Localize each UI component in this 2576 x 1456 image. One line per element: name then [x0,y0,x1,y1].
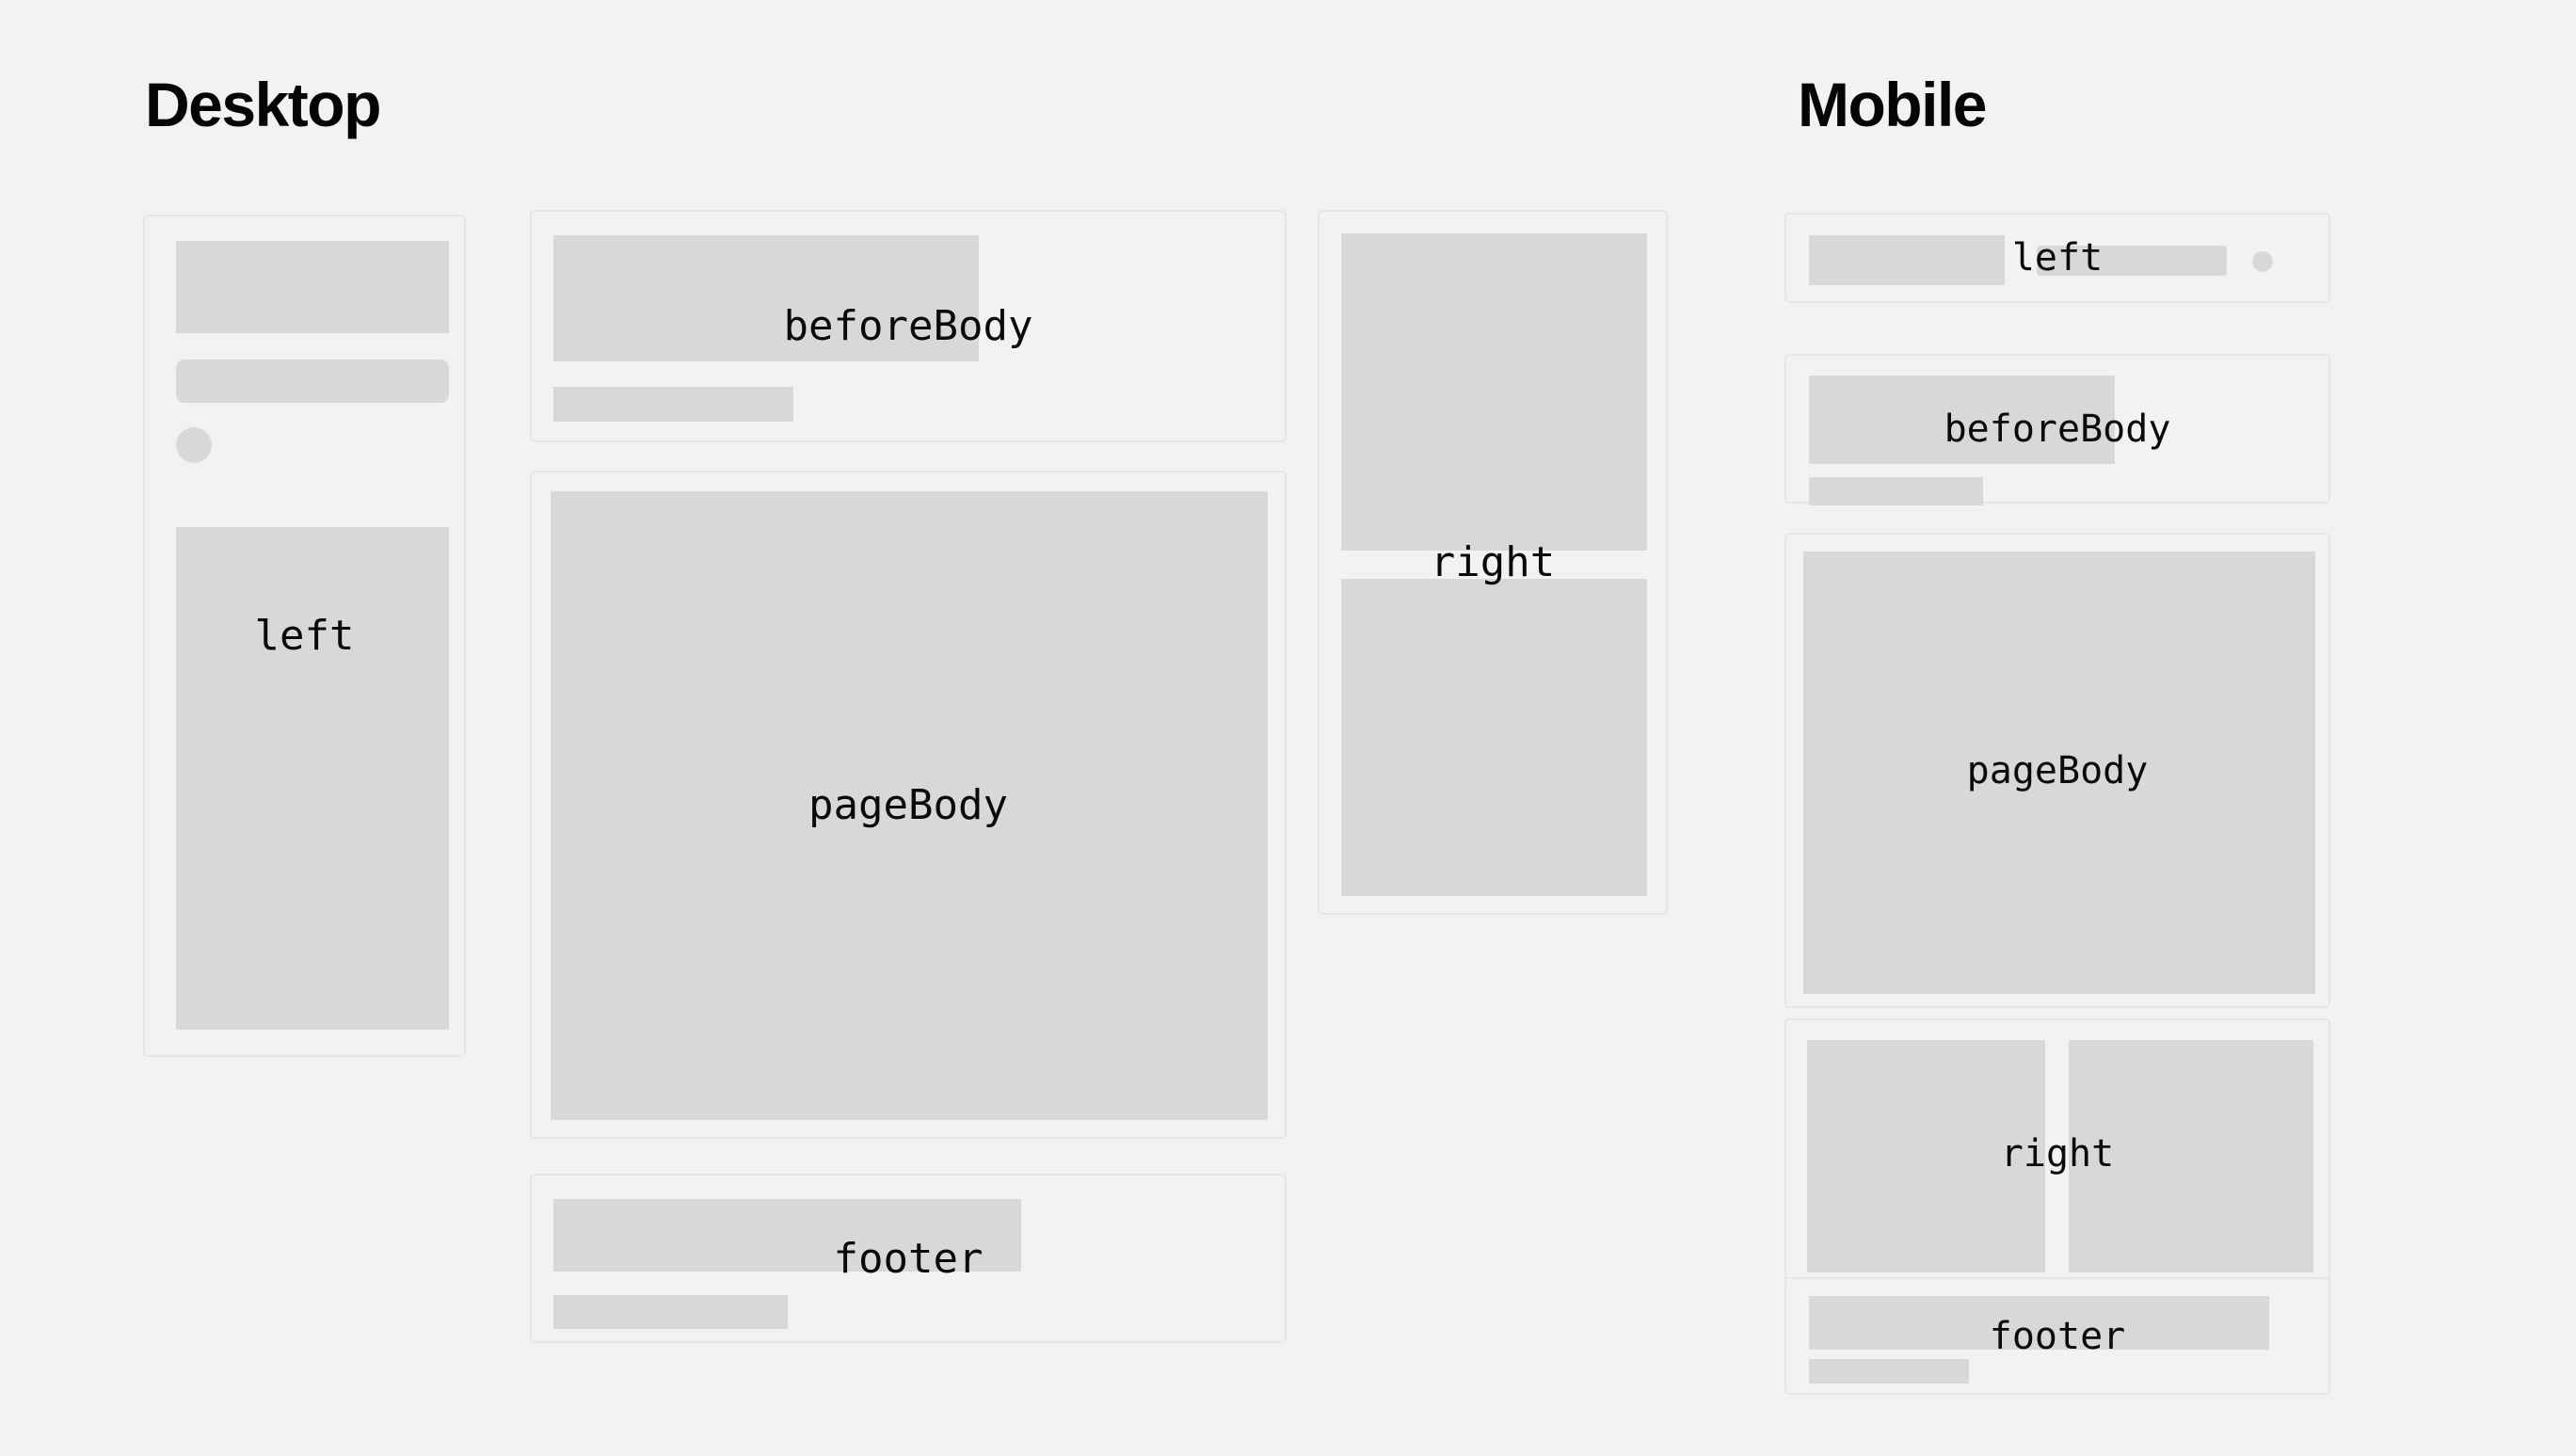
mobile-section-title: Mobile [1798,73,1986,136]
desktop-footer-region-card[interactable] [530,1174,1287,1343]
desktop-pagebody-region-card[interactable] [530,471,1287,1139]
placeholder-panel [176,527,449,1030]
placeholder-block [553,1199,1021,1272]
placeholder-block [2069,1040,2313,1272]
placeholder-block [1803,552,2315,994]
placeholder-bar [176,360,449,403]
placeholder-bar [1809,477,1983,505]
placeholder-block [1809,376,2115,464]
placeholder-block [551,491,1268,1120]
mobile-beforebody-region-card[interactable] [1784,354,2330,504]
placeholder-block [1809,1296,2269,1350]
layout-preview-stage: Desktop left beforeBody pageBody right f… [0,0,2576,1456]
avatar-placeholder [2252,251,2273,272]
desktop-right-region-card[interactable] [1318,210,1668,915]
placeholder-block [553,235,979,361]
placeholder-bar [2037,246,2227,276]
placeholder-block [1807,1040,2045,1272]
mobile-pagebody-region-card[interactable] [1784,533,2330,1008]
placeholder-block [176,241,449,333]
desktop-beforebody-region-card[interactable] [530,210,1287,442]
placeholder-block [1341,233,1647,551]
mobile-left-region-card[interactable] [1784,213,2330,303]
placeholder-block [1809,235,2005,285]
mobile-right-region-card[interactable] [1784,1018,2330,1289]
avatar-placeholder [176,427,212,463]
placeholder-bar [553,1295,788,1329]
placeholder-bar [553,387,793,422]
desktop-section-title: Desktop [145,73,380,136]
mobile-footer-region-card[interactable] [1784,1277,2330,1395]
desktop-left-region-card[interactable] [143,215,466,1057]
placeholder-block [1341,579,1647,896]
placeholder-bar [1809,1359,1969,1384]
